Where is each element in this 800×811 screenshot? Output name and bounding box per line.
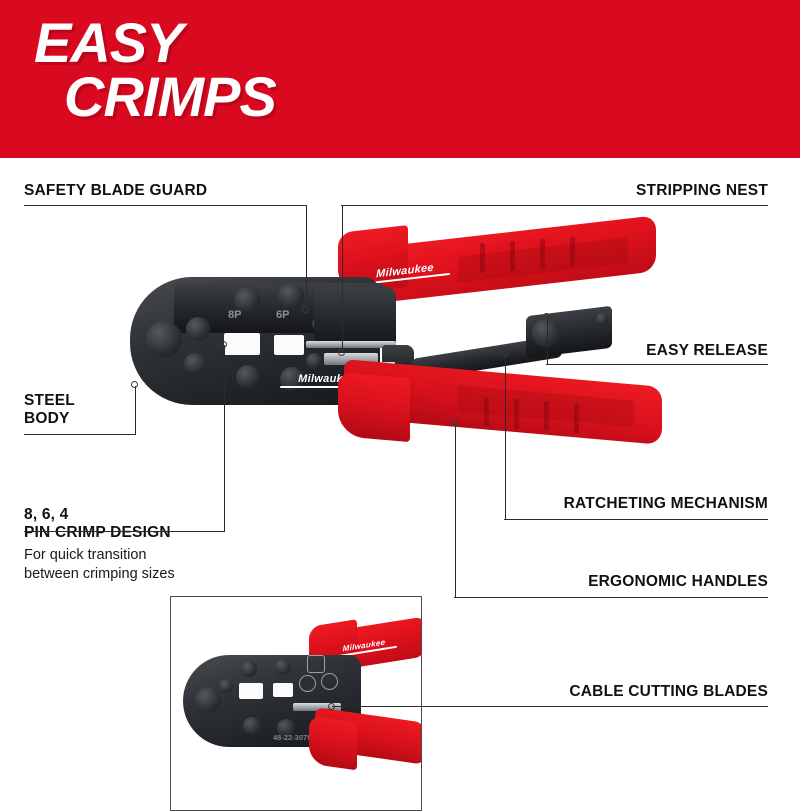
callout-label-pin-crimp-line1: 8, 6, 4 bbox=[24, 506, 171, 524]
callout-underline-stripping-nest bbox=[341, 205, 768, 206]
model-number: 48-22-3079 bbox=[273, 733, 311, 742]
die-stud bbox=[278, 283, 304, 309]
callout-underline-pin-crimp-design bbox=[24, 531, 225, 532]
die-stud bbox=[236, 365, 260, 389]
product-image-inset: Milwaukee 48-22-3079 bbox=[181, 619, 417, 791]
callout-point-ratcheting-mechanism bbox=[501, 350, 508, 357]
callout-underline-easy-release bbox=[546, 364, 768, 365]
screw-head bbox=[306, 353, 322, 369]
callout-underline-ergonomic-handles bbox=[454, 597, 768, 598]
jaw-marking-8p: 8P bbox=[228, 309, 241, 321]
callout-label-cable-cutting-blades: CABLE CUTTING BLADES bbox=[569, 683, 768, 701]
callout-underline-cable-cutting-blades bbox=[332, 706, 768, 707]
inset-die-stud bbox=[275, 659, 291, 675]
wire-icon bbox=[321, 673, 338, 690]
upper-handle-grip-ridge bbox=[480, 243, 485, 274]
callout-leader-steel-body bbox=[135, 386, 136, 435]
jaw-marking-6p: 6P bbox=[276, 309, 289, 321]
callout-label-pin-crimp-line2: PIN CRIMP DESIGN bbox=[24, 524, 171, 542]
inset-crimp-die bbox=[273, 683, 293, 697]
callout-underline-steel-body bbox=[24, 434, 136, 435]
easy-release-pivot bbox=[532, 319, 560, 347]
lower-handle-flare bbox=[338, 372, 410, 442]
callout-leader-stripping-nest bbox=[342, 205, 343, 352]
callout-leader-safety-blade-guard bbox=[306, 205, 307, 309]
inset-die-stud bbox=[241, 661, 257, 677]
lower-handle-grip-ridge bbox=[484, 397, 489, 427]
lower-handle-grip-ridge bbox=[544, 401, 549, 431]
callout-point-stripping-nest bbox=[338, 349, 345, 356]
lower-handle-grip-ridge bbox=[574, 403, 579, 433]
callout-point-steel-body bbox=[131, 381, 138, 388]
callout-point-ergonomic-handles bbox=[451, 419, 458, 426]
callout-label-steel-body-line2: BODY bbox=[24, 410, 75, 428]
callout-underline-safety-blade-guard bbox=[24, 205, 307, 206]
callout-underline-ratcheting-mechanism bbox=[504, 519, 768, 520]
callout-sub-line1: For quick transition bbox=[24, 546, 175, 565]
inset-pivot-stud bbox=[219, 679, 233, 693]
product-image-main: Milwaukee 8P 6P Milwaukee bbox=[128, 225, 688, 455]
callout-label-pin-crimp-design: 8, 6, 4 PIN CRIMP DESIGN bbox=[24, 506, 171, 541]
inset-die-stud bbox=[243, 717, 261, 735]
callout-point-cable-cutting-blades bbox=[328, 703, 335, 710]
callout-label-easy-release: EASY RELEASE bbox=[646, 342, 768, 360]
upper-handle-grip-ridge bbox=[540, 239, 545, 270]
cable-icon bbox=[299, 675, 316, 692]
banner-heading: EASY CRIMPS bbox=[34, 16, 276, 125]
callout-label-stripping-nest: STRIPPING NEST bbox=[636, 182, 768, 200]
warning-icon bbox=[307, 655, 325, 673]
pivot-stud bbox=[184, 353, 206, 375]
easy-release-screw bbox=[596, 313, 608, 325]
callout-label-steel-body-line1: STEEL bbox=[24, 392, 75, 410]
inset-crimp-die bbox=[239, 683, 263, 699]
crimp-die-8p bbox=[224, 333, 260, 355]
callout-point-pin-crimp-design bbox=[220, 341, 227, 348]
callout-leader-pin-crimp-design bbox=[224, 345, 225, 532]
inset-lower-handle-flare bbox=[309, 716, 357, 771]
callout-leader-ergonomic-handles bbox=[455, 424, 456, 598]
upper-handle-grip-ridge bbox=[570, 237, 575, 268]
pivot-stud bbox=[146, 321, 182, 357]
callout-label-ratcheting-mechanism: RATCHETING MECHANISM bbox=[564, 495, 768, 513]
banner-heading-line2: CRIMPS bbox=[64, 70, 276, 124]
callout-sub-pin-crimp-design: For quick transition between crimping si… bbox=[24, 546, 175, 584]
inset-secondary-view: Milwaukee 48-22-3079 bbox=[170, 596, 422, 811]
banner-heading-line1: EASY bbox=[34, 16, 276, 70]
callout-label-steel-body: STEEL BODY bbox=[24, 392, 75, 427]
callout-leader-easy-release bbox=[547, 318, 548, 365]
header-banner: EASY CRIMPS bbox=[0, 0, 800, 158]
callout-label-safety-blade-guard: SAFETY BLADE GUARD bbox=[24, 182, 207, 200]
pivot-stud bbox=[186, 317, 210, 341]
callout-leader-ratcheting-mechanism bbox=[505, 355, 506, 520]
upper-handle-grip-ridge bbox=[510, 241, 515, 272]
inset-pivot-stud bbox=[195, 687, 221, 713]
safety-blade-guard-plate bbox=[314, 287, 396, 347]
callout-sub-line2: between crimping sizes bbox=[24, 565, 175, 584]
lower-handle-grip-ridge bbox=[514, 399, 519, 429]
callout-point-safety-blade-guard bbox=[302, 306, 309, 313]
callout-point-easy-release bbox=[543, 313, 550, 320]
crimp-die-6p bbox=[274, 335, 304, 355]
callout-label-ergonomic-handles: ERGONOMIC HANDLES bbox=[588, 573, 768, 591]
